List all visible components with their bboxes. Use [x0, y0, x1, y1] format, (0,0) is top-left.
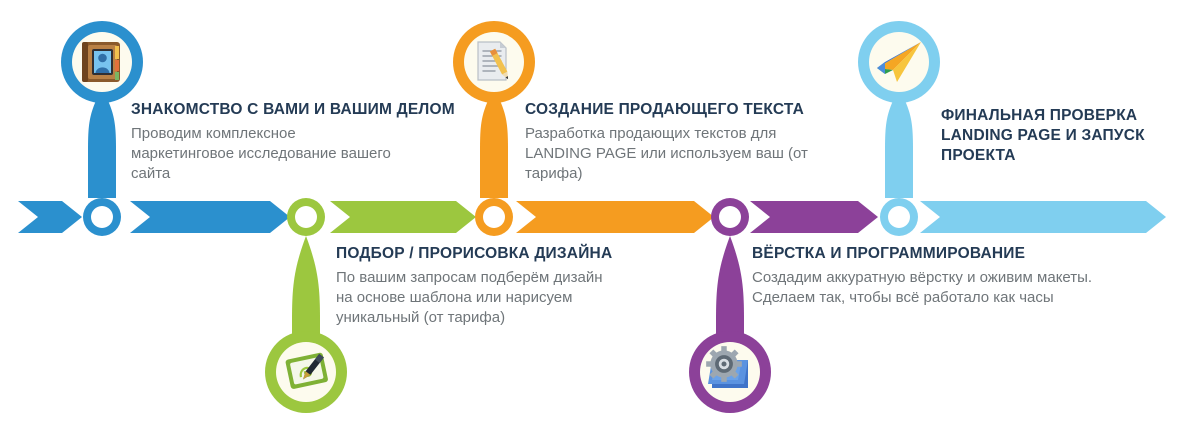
- gear-folder-icon: [702, 344, 758, 400]
- pen-tablet-icon: [278, 344, 334, 400]
- step-1-icon-wrap: [74, 34, 130, 90]
- connector-step-5: [880, 88, 918, 236]
- step-3-text: СОЗДАНИЕ ПРОДАЮЩЕГО ТЕКСТА Разработка пр…: [525, 100, 870, 184]
- process-arrow-band: [0, 0, 1182, 430]
- band-segment-3: [330, 201, 476, 233]
- step-3-body: Разработка продающих текстов для LANDING…: [525, 124, 870, 184]
- step-5-text: ФИНАЛЬНАЯ ПРОВЕРКА LANDING PAGE И ЗАПУСК…: [941, 106, 1171, 169]
- step-1-text: ЗНАКОМСТВО С ВАМИ И ВАШИМ ДЕЛОМ Проводим…: [131, 100, 471, 184]
- step-5-heading: ФИНАЛЬНАЯ ПРОВЕРКА LANDING PAGE И ЗАПУСК…: [941, 106, 1171, 165]
- infographic-timeline: ЗНАКОМСТВО С ВАМИ И ВАШИМ ДЕЛОМ Проводим…: [0, 0, 1182, 430]
- step-2-heading: ПОДБОР / ПРОРИСОВКА ДИЗАЙНА: [336, 244, 676, 264]
- paper-plane-icon: [871, 34, 927, 90]
- step-4-text: ВЁРСТКА И ПРОГРАММИРОВАНИЕ Создадим акку…: [752, 244, 1172, 308]
- document-pencil-icon: [466, 34, 522, 90]
- step-5-icon-wrap: [871, 34, 927, 90]
- step-3-icon-wrap: [466, 34, 522, 90]
- address-book-icon: [74, 34, 130, 90]
- connector-step-2: [287, 198, 325, 352]
- band-segment-5: [750, 201, 878, 233]
- connector-step-3: [475, 88, 513, 236]
- step-4-heading: ВЁРСТКА И ПРОГРАММИРОВАНИЕ: [752, 244, 1172, 264]
- connector-step-4: [711, 198, 749, 352]
- band-segment-2: [130, 201, 290, 233]
- connector-step-1: [83, 88, 121, 236]
- band-segment-1: [18, 201, 82, 233]
- step-2-body: По вашим запросам подберём дизайн на осн…: [336, 268, 676, 328]
- step-4-icon-wrap: [702, 344, 758, 400]
- step-3-heading: СОЗДАНИЕ ПРОДАЮЩЕГО ТЕКСТА: [525, 100, 870, 120]
- step-2-icon-wrap: [278, 344, 334, 400]
- step-4-body: Создадим аккуратную вёрстку и оживим мак…: [752, 268, 1172, 308]
- step-1-heading: ЗНАКОМСТВО С ВАМИ И ВАШИМ ДЕЛОМ: [131, 100, 471, 120]
- step-1-body: Проводим комплексное маркетинговое иссле…: [131, 124, 471, 184]
- band-segment-6: [920, 201, 1166, 233]
- step-2-text: ПОДБОР / ПРОРИСОВКА ДИЗАЙНА По вашим зап…: [336, 244, 676, 328]
- band-segment-4: [516, 201, 714, 233]
